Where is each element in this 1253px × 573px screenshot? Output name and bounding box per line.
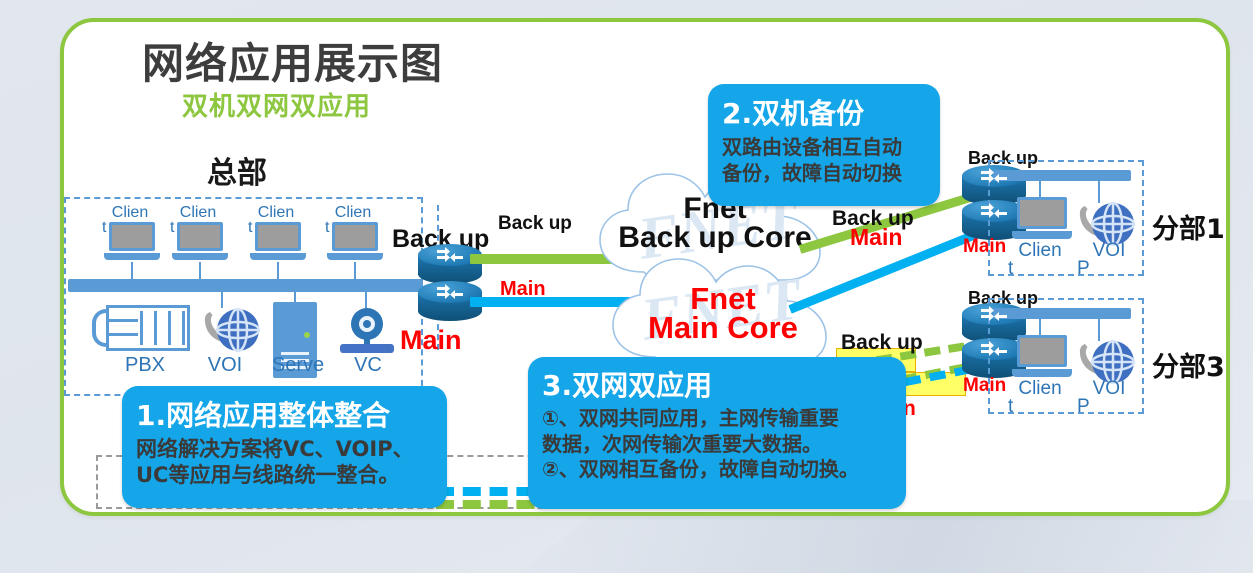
hq-voip-stem (221, 282, 223, 308)
hq-backup-router-icon (418, 244, 482, 284)
branch3-name: 分部3 (1152, 345, 1225, 384)
hq-client-3-icon (250, 222, 306, 262)
hq-main-link-label: Main (500, 278, 546, 301)
branch3-client-label-wrap: t (1008, 399, 1072, 414)
hq-client-3-stem (277, 262, 279, 282)
hq-client-3-label: Clien (248, 205, 304, 220)
headquarters-label: 总部 (207, 148, 267, 192)
hq-main-router-label: Main (400, 325, 462, 356)
callout-3-body-1: ①、双网共同应用，主网传输重要 (542, 406, 906, 432)
voip-globe-icon (198, 306, 244, 352)
callout-2-body-2: 备份，故障自动切换 (722, 160, 940, 186)
hq-client-1-stem (131, 262, 133, 282)
voip-label: VOI (190, 358, 260, 373)
callout-3-heading: 3.双网双应用 (542, 364, 906, 404)
diagram-canvas: 网络应用展示图 双机双网双应用 总部 Clien t Clien t Clien… (0, 0, 1253, 573)
hq-client-4-label: Clien (325, 205, 381, 220)
branch1-client-label: Clien (1008, 243, 1072, 258)
vc-camera-icon (340, 308, 394, 358)
callout-1-body-2: UC等应用与线路统一整合。 (136, 462, 447, 488)
callout-3-body-3: ②、双网相互备份，故障自动切换。 (542, 457, 906, 483)
server-label: Serve (263, 358, 333, 373)
callout-3[interactable]: 3.双网双应用 ①、双网共同应用，主网传输重要 数据，次网传输次重要大数据。 ②… (528, 357, 906, 509)
callout-3-body-2: 数据，次网传输次重要大数据。 (542, 432, 906, 458)
hq-client-2-label: Clien (170, 205, 226, 220)
hq-client-2-stem (199, 262, 201, 282)
hq-client-4-icon (327, 222, 383, 262)
hq-backup-link-label: Back up (498, 213, 572, 235)
callout-2[interactable]: 2.双机备份 双路由设备相互自动 备份，故障自动切换 (708, 84, 940, 206)
branch1-main-link-label: Main (850, 224, 902, 251)
vc-label: VC (333, 358, 403, 373)
branch1-voip-label-wrap: P (1077, 261, 1141, 276)
branch1-client-label-wrap: t (1008, 261, 1072, 276)
branch3-client-icon (1012, 335, 1072, 379)
pbx-icon (92, 305, 190, 351)
branch3-bus (993, 308, 1131, 319)
hq-client-4-stem (354, 262, 356, 282)
callout-1-body-1: 网络解决方案将VC、VOIP、 (136, 436, 447, 462)
callout-1-heading: 1.网络应用整体整合 (136, 394, 447, 434)
branch1-name: 分部1 (1152, 207, 1225, 246)
branch3-voip-label-wrap: P (1077, 399, 1141, 414)
pbx-label: PBX (110, 358, 180, 373)
branch3-voip-label: VOI (1077, 381, 1141, 396)
hq-vc-stem (365, 282, 367, 310)
branch3-client-label: Clien (1008, 381, 1072, 396)
main-core-line2: Main Core (605, 312, 841, 344)
main-core-cloud: FNET Fnet Main Core (605, 253, 841, 371)
page-subtitle: 双机双网双应用 (182, 86, 371, 123)
branch1-client-icon (1012, 197, 1072, 241)
callout-2-body-1: 双路由设备相互自动 (722, 134, 940, 160)
branch1-bus (993, 170, 1131, 181)
callout-2-heading: 2.双机备份 (722, 92, 940, 132)
hq-client-2-icon (172, 222, 228, 262)
hq-server-stem (294, 282, 296, 304)
branch3-backup-link-label: Back up (841, 331, 923, 355)
hq-client-1-label: Clien (102, 205, 158, 220)
callout-1[interactable]: 1.网络应用整体整合 网络解决方案将VC、VOIP、 UC等应用与线路统一整合。 (122, 386, 447, 508)
branch1-voip-label: VOI (1077, 243, 1141, 258)
page-title: 网络应用展示图 (142, 30, 443, 91)
headquarters-bus (68, 279, 423, 292)
hq-client-1-icon (104, 222, 160, 262)
